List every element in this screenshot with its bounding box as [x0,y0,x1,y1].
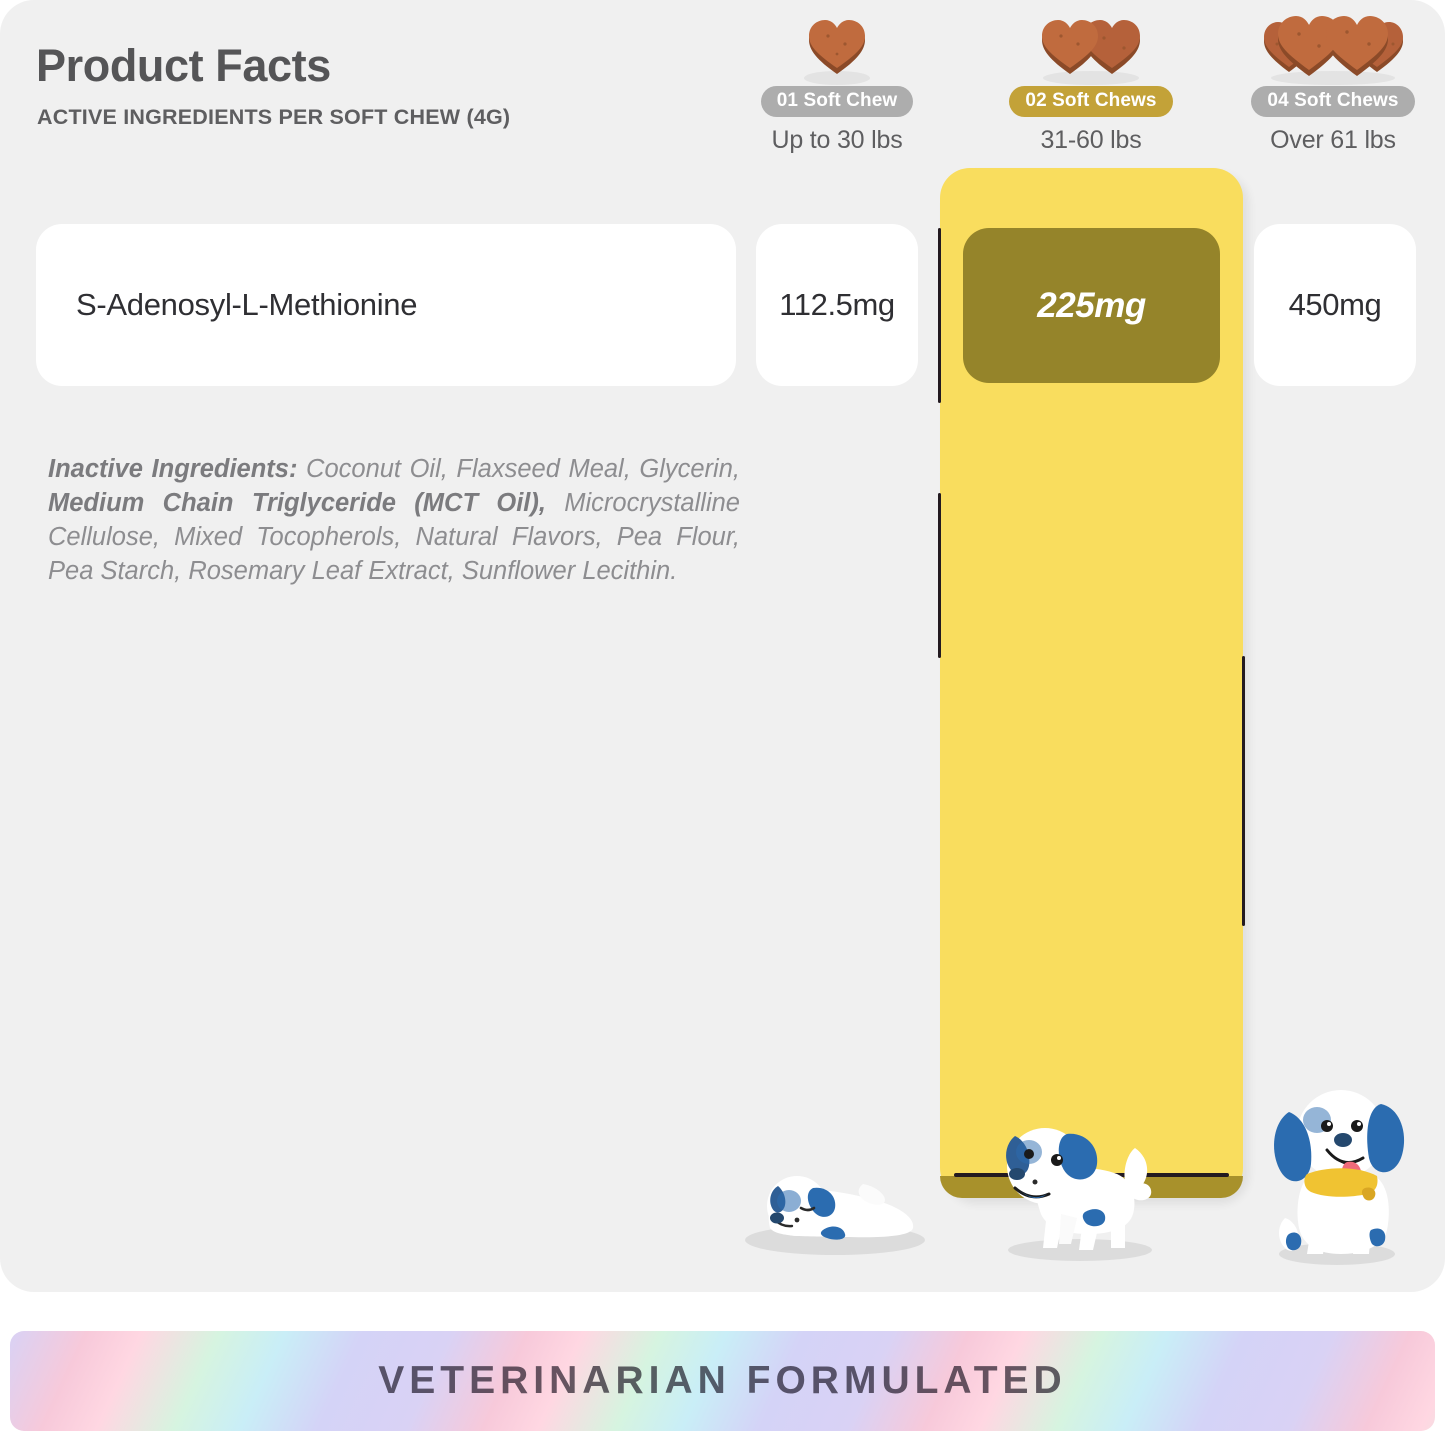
chew-count-badge: 01 Soft Chew [761,86,914,117]
heart-chew-icon [712,14,962,86]
inactive-ingredients-highlight: Medium Chain Triglyceride (MCT Oil), [48,489,546,517]
ingredient-name: S-Adenosyl-L-Methionine [76,287,417,323]
weight-range-label: Over 61 lbs [1208,126,1445,155]
column-edge-mark [938,228,941,403]
dog-sitting-icon [1255,1078,1420,1273]
inactive-ingredients-label: Inactive Ingredients: [48,455,297,483]
chew-count-badge: 04 Soft Chews [1251,86,1414,117]
page-subtitle: ACTIVE INGREDIENTS PER SOFT CHEW (4G) [37,105,510,130]
weight-range-label: 31-60 lbs [966,126,1216,155]
column-edge-mark [938,493,941,658]
dose-column-header-1: 01 Soft Chew Up to 30 lbs [712,14,962,155]
heart-chew-icon [1208,14,1445,86]
column-edge-mark [1242,656,1245,926]
dog-walking-icon [985,1108,1170,1268]
page-title: Product Facts [36,40,331,92]
weight-range-label: Up to 30 lbs [712,126,962,155]
ingredient-name-cell: S-Adenosyl-L-Methionine [36,224,736,386]
veterinarian-formulated-banner: VETERINARIAN FORMULATED [10,1331,1435,1431]
dose-column-header-2: 02 Soft Chews 31-60 lbs [966,14,1216,155]
ingredient-dose-cell-3: 450mg [1254,224,1416,386]
inactive-ingredients-part-1: Coconut Oil, Flaxseed Meal, Glycerin, [297,455,740,483]
product-facts-card: Product Facts ACTIVE INGREDIENTS PER SOF… [0,0,1445,1292]
veterinarian-formulated-text: VETERINARIAN FORMULATED [378,1359,1066,1403]
dose-column-header-3: 04 Soft Chews Over 61 lbs [1208,14,1445,155]
inactive-ingredients-text: Inactive Ingredients: Coconut Oil, Flaxs… [48,452,740,588]
dog-sleeping-icon [735,1148,935,1263]
ingredient-dose-cell-1: 112.5mg [756,224,918,386]
ingredient-dose-cell-2: 225mg [963,228,1220,383]
chew-count-badge: 02 Soft Chews [1009,86,1172,117]
heart-chew-icon [966,14,1216,86]
